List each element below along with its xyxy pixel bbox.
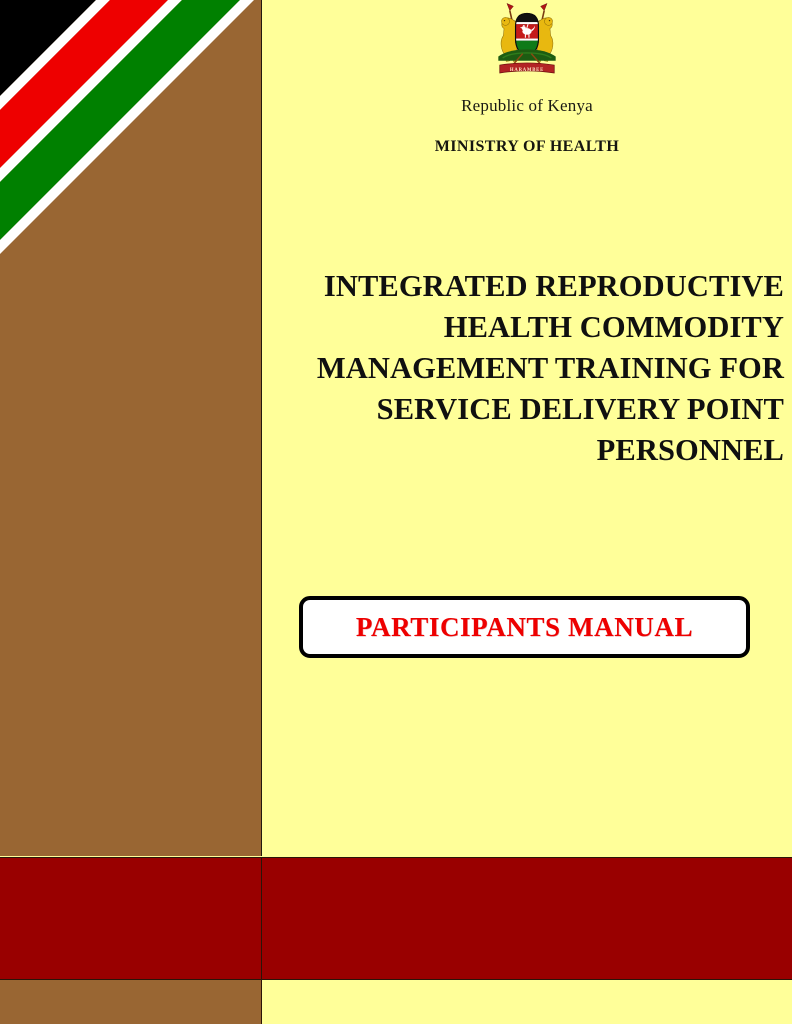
svg-text:HARAMBEE: HARAMBEE — [510, 68, 544, 73]
participants-manual-badge: PARTICIPANTS MANUAL — [299, 596, 750, 658]
kenya-flag-diagonal-stripes-icon — [0, 0, 261, 290]
title-line: PERSONNEL — [280, 430, 784, 471]
emblem-container: HARAMBEE — [262, 2, 792, 78]
kenya-coat-of-arms-icon: HARAMBEE — [491, 2, 563, 78]
bottom-red-band — [0, 857, 792, 980]
bottom-strip — [0, 980, 792, 1024]
title-line: MANAGEMENT TRAINING FOR — [280, 348, 784, 389]
bottom-strip-brown — [0, 980, 261, 1024]
right-content-panel: HARAMBEE Republic of Kenya MINISTRY OF H… — [262, 0, 792, 856]
left-brown-column — [0, 0, 261, 856]
title-line: HEALTH COMMODITY — [280, 307, 784, 348]
title-line: INTEGRATED REPRODUCTIVE — [280, 266, 784, 307]
title-line: SERVICE DELIVERY POINT — [280, 389, 784, 430]
bottom-strip-divider — [261, 980, 262, 1024]
red-band-divider — [261, 858, 262, 981]
participants-manual-label: PARTICIPANTS MANUAL — [356, 612, 693, 643]
country-label: Republic of Kenya — [262, 96, 792, 116]
document-cover: HARAMBEE Republic of Kenya MINISTRY OF H… — [0, 0, 792, 1024]
document-title: INTEGRATED REPRODUCTIVE HEALTH COMMODITY… — [280, 266, 784, 471]
ministry-label: MINISTRY OF HEALTH — [262, 138, 792, 156]
